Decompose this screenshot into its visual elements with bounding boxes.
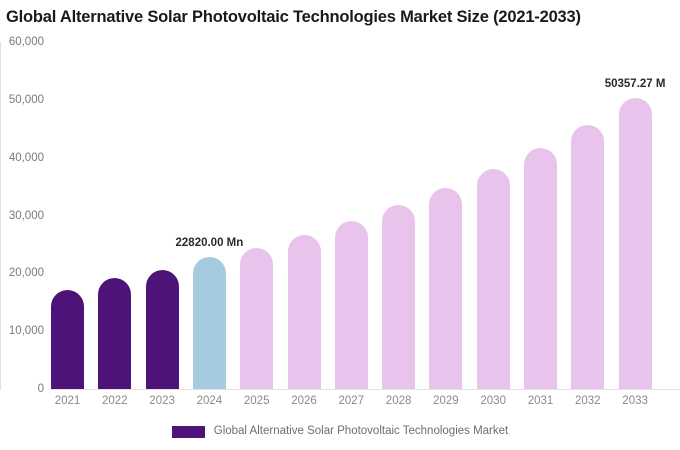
bar-column[interactable] — [288, 235, 321, 389]
bar-2023[interactable] — [146, 270, 179, 389]
bar-column[interactable] — [429, 188, 462, 389]
bar-column[interactable] — [51, 290, 84, 389]
bar-column[interactable] — [98, 278, 131, 389]
y-axis-tick: 40,000 — [0, 153, 44, 164]
bar-column[interactable] — [335, 221, 368, 389]
legend-swatch-market — [172, 426, 205, 438]
chart-title: Global Alternative Solar Photovoltaic Te… — [6, 6, 680, 28]
bar-2030[interactable] — [477, 169, 510, 389]
bar-2029[interactable] — [429, 188, 462, 389]
y-axis-tick: 20,000 — [0, 268, 44, 279]
bar-2026[interactable] — [288, 235, 321, 389]
bar-column[interactable] — [524, 148, 557, 389]
bar-column[interactable] — [193, 257, 226, 389]
bar-2032[interactable] — [571, 125, 604, 389]
bar-chart: Global Alternative Solar Photovoltaic Te… — [0, 0, 680, 450]
bar-column[interactable] — [571, 125, 604, 389]
y-axis-tick: 10,000 — [0, 326, 44, 337]
bar-2031[interactable] — [524, 148, 557, 389]
y-axis-line — [0, 42, 1, 390]
bar-2033[interactable] — [619, 98, 652, 389]
legend-label-market: Global Alternative Solar Photovoltaic Te… — [214, 425, 508, 438]
bar-value-label-2033: 50357.27 M — [605, 78, 666, 91]
y-axis: 010,00020,00030,00040,00050,00060,000 — [0, 0, 44, 450]
bar-2025[interactable] — [240, 248, 273, 389]
y-axis-tick: 30,000 — [0, 211, 44, 222]
y-axis-tick: 50,000 — [0, 95, 44, 106]
bar-column[interactable] — [240, 248, 273, 389]
bar-2021[interactable] — [51, 290, 84, 389]
bar-2024[interactable] — [193, 257, 226, 389]
x-axis-tick: 2033 — [605, 395, 665, 408]
bar-column[interactable] — [477, 169, 510, 389]
y-axis-tick: 60,000 — [0, 37, 44, 48]
bar-value-label-2024: 22820.00 Mn — [176, 237, 244, 250]
y-axis-tick: 0 — [0, 384, 44, 395]
bar-2027[interactable] — [335, 221, 368, 389]
chart-legend: Global Alternative Solar Photovoltaic Te… — [0, 425, 680, 438]
bar-2028[interactable] — [382, 205, 415, 389]
bar-column[interactable] — [146, 270, 179, 389]
bar-2022[interactable] — [98, 278, 131, 389]
x-axis-line — [49, 389, 680, 390]
bar-column[interactable] — [619, 98, 652, 389]
bar-column[interactable] — [382, 205, 415, 389]
